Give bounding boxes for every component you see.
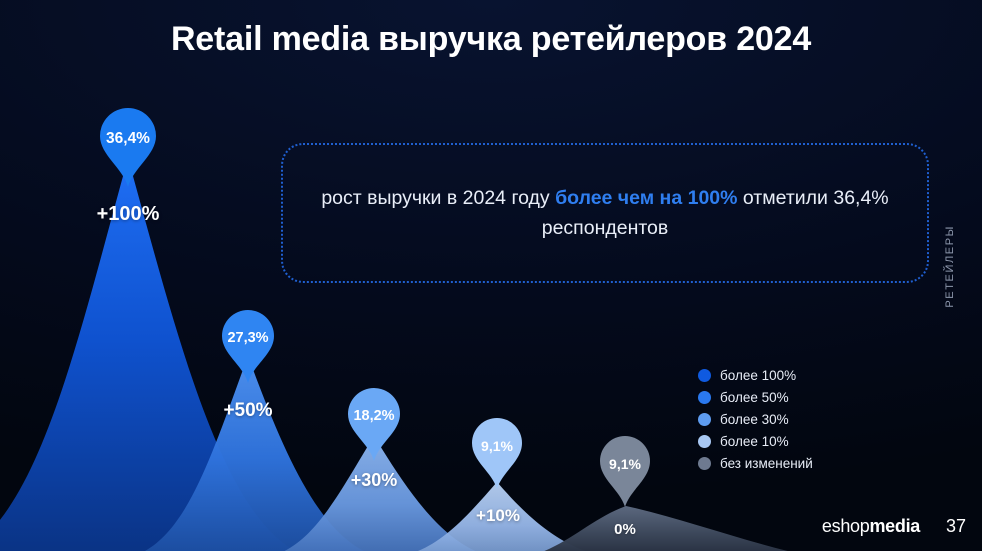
- pin-marker-10: 9,1%: [472, 418, 522, 490]
- pin-marker-30: 18,2%: [348, 388, 400, 462]
- slide-canvas: Retail media выручка ретейлеров 2024 36,…: [0, 0, 982, 551]
- legend-dot-icon: [698, 457, 711, 470]
- pin-marker-0: 9,1%: [600, 436, 650, 508]
- legend-dot-icon: [698, 391, 711, 404]
- pin-marker-100: 36,4%: [100, 108, 156, 188]
- peak-label-30: +30%: [324, 470, 424, 491]
- brand-logo-light: eshop: [822, 516, 870, 536]
- legend-label: более 30%: [720, 412, 789, 427]
- legend-item-50[interactable]: более 50%: [698, 386, 813, 408]
- peak-label-100: +100%: [78, 203, 178, 226]
- legend-dot-icon: [698, 369, 711, 382]
- peak-label-50: +50%: [198, 400, 298, 422]
- callout-text-before: рост выручки в 2024 году: [321, 187, 555, 209]
- callout-box: рост выручки в 2024 году более чем на 10…: [281, 143, 929, 283]
- legend-label: без изменений: [720, 456, 813, 471]
- legend-label: более 10%: [720, 434, 789, 449]
- section-label-vertical: РЕТЕЙЛЕРЫ: [944, 225, 960, 308]
- legend-label: более 50%: [720, 390, 789, 405]
- legend-item-10[interactable]: более 10%: [698, 430, 813, 452]
- legend-item-no-change[interactable]: без изменений: [698, 452, 813, 474]
- pin-marker-50: 27,3%: [222, 310, 274, 384]
- legend-dot-icon: [698, 413, 711, 426]
- brand-logo-bold: media: [869, 516, 920, 536]
- slide-title: Retail media выручка ретейлеров 2024: [0, 20, 982, 59]
- legend-dot-icon: [698, 435, 711, 448]
- legend-label: более 100%: [720, 368, 796, 383]
- page-number: 37: [946, 516, 966, 537]
- callout-highlight: более чем на 100%: [555, 187, 737, 209]
- legend-item-30[interactable]: более 30%: [698, 408, 813, 430]
- peak-label-10: +10%: [448, 506, 548, 526]
- peak-label-0: 0%: [580, 521, 670, 538]
- legend-item-100[interactable]: более 100%: [698, 364, 813, 386]
- chart-legend: более 100% более 50% более 30% более 10%…: [698, 364, 813, 474]
- callout-text: рост выручки в 2024 году более чем на 10…: [283, 183, 927, 243]
- brand-logo: eshopmedia: [822, 516, 920, 537]
